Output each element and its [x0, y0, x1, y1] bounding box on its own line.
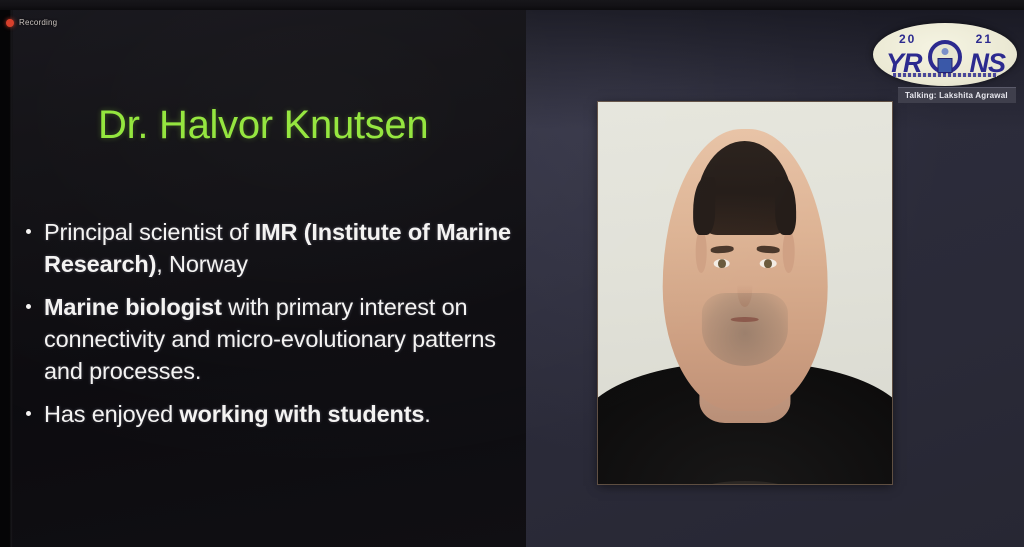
top-bezel: [0, 0, 1024, 10]
photo-shirt-collar: [701, 481, 790, 484]
photo-eye-right: [760, 259, 776, 269]
logo-globe-cap: [942, 48, 949, 55]
screen-capture: Recording Dr. Halvor Knutsen Principal s…: [0, 0, 1024, 547]
logo-tagline-strip: [893, 73, 997, 77]
slide-bullet-text: Marine biologist with primary interest o…: [44, 294, 496, 384]
bullet-emphasis: Marine biologist: [44, 294, 222, 320]
logo-globe-icon: [928, 40, 962, 74]
photo-ear-left: [696, 230, 708, 272]
photo-nose: [738, 270, 753, 307]
logo-globe-core: [938, 58, 953, 73]
bullet-dot-icon: [26, 304, 31, 309]
logo-year-left: 20: [899, 32, 916, 46]
bullet-emphasis: working with students: [179, 401, 424, 427]
photo-hair: [696, 141, 793, 234]
bullet-dot-icon: [26, 411, 31, 416]
bullet-dot-icon: [26, 229, 31, 234]
recording-indicator: Recording: [6, 18, 57, 27]
speaker-photo: [598, 102, 892, 484]
recording-label: Recording: [19, 18, 57, 27]
photo-brow-left: [710, 245, 734, 254]
bullet-run: Has enjoyed: [44, 401, 179, 427]
photo-eye-left: [714, 259, 730, 269]
bullet-run: , Norway: [156, 251, 248, 277]
photo-ear-right: [783, 230, 795, 272]
slide-title: Dr. Halvor Knutsen: [98, 103, 428, 148]
recording-dot-icon: [6, 19, 14, 27]
slide-bullet-list: Principal scientist of IMR (Institute of…: [20, 216, 525, 441]
slide-bullet: Has enjoyed working with students.: [20, 398, 525, 430]
bullet-run: .: [424, 401, 430, 427]
left-screen-seam: [9, 10, 13, 547]
logo-year-right: 21: [976, 32, 993, 46]
photo-brow-right: [756, 245, 780, 254]
slide-bullet: Principal scientist of IMR (Institute of…: [20, 216, 525, 280]
slide-bullet-text: Has enjoyed working with students.: [44, 401, 431, 427]
bullet-run: Principal scientist of: [44, 219, 255, 245]
slide-bullet: Marine biologist with primary interest o…: [20, 291, 525, 387]
talking-indicator: Talking: Lakshita Agrawal: [898, 87, 1016, 103]
yrons-logo: 20 21 YR NS: [873, 23, 1017, 86]
photo-head: [663, 129, 828, 412]
slide-bullet-text: Principal scientist of IMR (Institute of…: [44, 219, 511, 277]
